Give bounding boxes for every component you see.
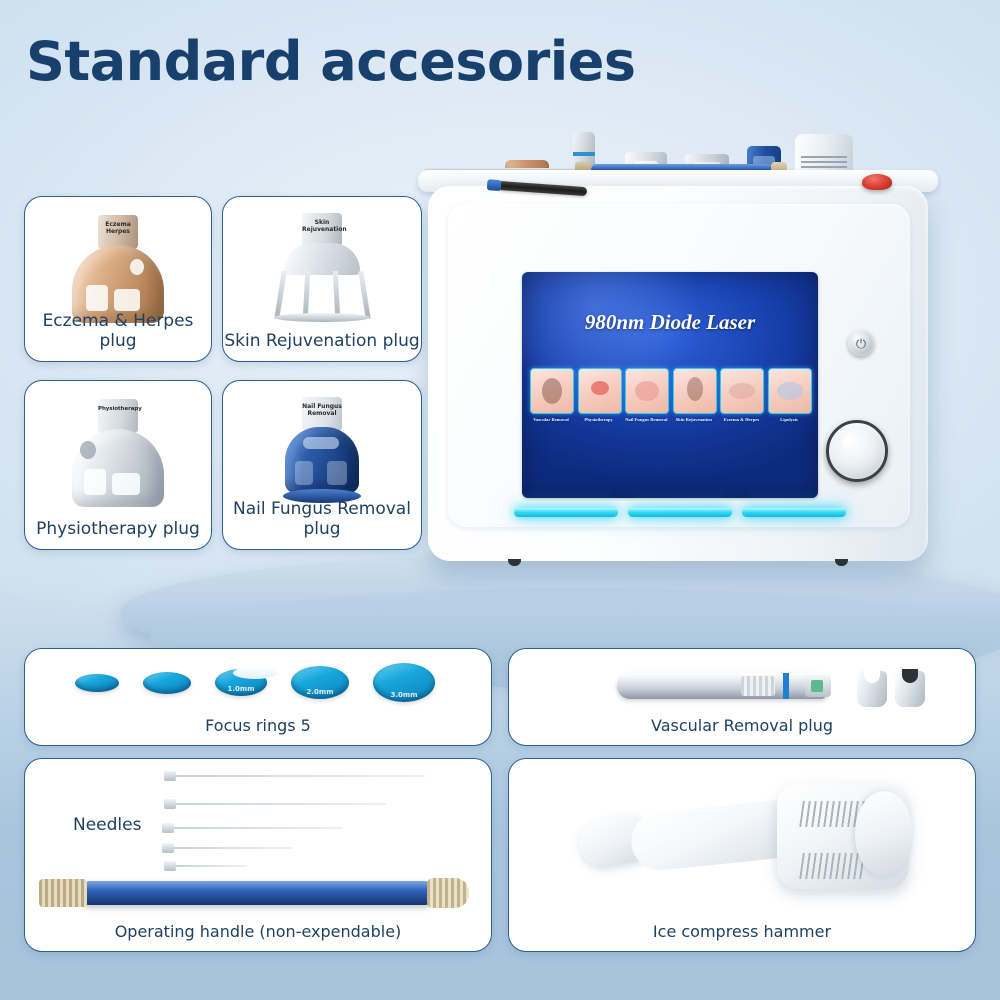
- operating-handle-image: [83, 881, 431, 905]
- mode-label: Skin Rejuvenation: [673, 417, 715, 422]
- plug-engraving-line2: Removal: [307, 410, 336, 417]
- card-label: Operating handle (non-expendable): [25, 922, 491, 941]
- mode-thumbnail-icon: [578, 368, 622, 414]
- power-icon[interactable]: ⏻: [848, 330, 874, 356]
- mode-thumbnail-icon: [720, 368, 764, 414]
- needle: [175, 865, 247, 867]
- focus-ring: [143, 672, 191, 694]
- mode-thumbnail-icon: [768, 368, 812, 414]
- ring-size-label: 1.0mm: [228, 685, 255, 693]
- cage-leg: [358, 271, 370, 319]
- handpiece-tip: [805, 675, 831, 697]
- card-focus-rings[interactable]: 1.0mm 2.0mm 3.0mm Focus rings 5: [24, 648, 492, 746]
- handpiece-blue-band: [783, 673, 789, 699]
- vascular-handpiece-image: [617, 673, 827, 699]
- ring-size-label: 2.0mm: [307, 688, 334, 696]
- mode-lipolysis[interactable]: Lipolysis: [768, 368, 810, 422]
- handle-knurled-end-right: [427, 878, 469, 908]
- cage-leg: [303, 271, 311, 319]
- card-physiotherapy-plug[interactable]: Physiotherapy Physiotherapy plug: [24, 380, 212, 550]
- hammer-vents-bottom: [799, 853, 869, 879]
- mode-skin-rejuvenation[interactable]: Skin Rejuvenation: [673, 368, 715, 422]
- plug-neck: Nail Fungus Removal: [302, 397, 342, 431]
- mode-physiotherapy[interactable]: Physiotherapy: [578, 368, 620, 422]
- plug-bell: [285, 427, 359, 493]
- mode-vascular-removal[interactable]: Vascular Removal: [530, 368, 572, 422]
- plug-engraving-line2: Rejuvenation: [302, 226, 347, 233]
- plug-bell: [72, 429, 164, 507]
- focus-ring: 2.0mm: [291, 666, 349, 699]
- card-label: Vascular Removal plug: [509, 716, 975, 735]
- plug-neck: Eczema Herpes: [98, 215, 138, 249]
- ice-hammer-image: [579, 777, 909, 895]
- emergency-stop-button[interactable]: [862, 174, 892, 190]
- plug-neck: Skin Rejuvenation: [302, 213, 342, 247]
- card-skin-rejuvenation-plug[interactable]: Skin Rejuvenation Skin Rejuvenation plug: [222, 196, 422, 362]
- hammer-neck: [628, 799, 793, 873]
- cage-leg: [333, 271, 341, 319]
- card-vascular-removal-plug[interactable]: Vascular Removal plug: [508, 648, 976, 746]
- mode-thumbnail-icon: [673, 368, 717, 414]
- needle: [175, 803, 387, 805]
- plug-engraving-line2: Herpes: [106, 228, 130, 235]
- card-eczema-herpes-plug[interactable]: Eczema Herpes Eczema & Herpes plug: [24, 196, 212, 362]
- page-title: Standard accesories: [26, 30, 636, 93]
- vascular-tip-cap-2: [895, 671, 925, 707]
- card-needles-operating-handle[interactable]: Needles Operating handle (non-expendable…: [24, 758, 492, 952]
- focus-ring: [75, 674, 119, 692]
- cage-leg: [274, 271, 286, 319]
- laser-machine: 980nm Diode Laser Vascular Removal Physi…: [428, 186, 928, 561]
- handle-knurled-end-left: [39, 879, 87, 907]
- focus-rings-image: 1.0mm 2.0mm 3.0mm: [75, 663, 435, 702]
- plug-engraving-line1: Physiotherapy: [98, 406, 142, 412]
- handpiece-grip: [741, 676, 775, 696]
- mode-eczema-herpes[interactable]: Eczema & Herpes: [720, 368, 762, 422]
- mode-label: Nail Fungus Removal: [625, 417, 667, 422]
- needles-label: Needles: [73, 815, 141, 835]
- card-label: Eczema & Herpes plug: [25, 311, 211, 351]
- ring-size-label: 3.0mm: [391, 691, 418, 699]
- vascular-tip-cap-1: [857, 671, 887, 707]
- mode-thumbnail-icon: [625, 368, 669, 414]
- product-accessories-page: Standard accesories 980nm Diode Laser: [0, 0, 1000, 1000]
- hammer-end-cap: [855, 791, 913, 877]
- screen-title: 980nm Diode Laser: [522, 310, 818, 335]
- needle: [173, 827, 343, 829]
- control-knob[interactable]: [826, 420, 888, 482]
- led-segment: [628, 508, 732, 517]
- card-label: Physiotherapy plug: [25, 519, 211, 539]
- card-label: Skin Rejuvenation plug: [223, 331, 421, 351]
- mode-label: Vascular Removal: [530, 417, 572, 422]
- card-label: Ice compress hammer: [509, 922, 975, 941]
- mode-label: Physiotherapy: [578, 417, 620, 422]
- plug-neck: Physiotherapy: [98, 399, 138, 433]
- card-label: Nail Fungus Removal plug: [223, 499, 421, 539]
- needle: [173, 847, 293, 849]
- machine-front-panel: 980nm Diode Laser Vascular Removal Physi…: [448, 204, 910, 527]
- card-nail-fungus-removal-plug[interactable]: Nail Fungus Removal Nail Fungus Removal …: [222, 380, 422, 550]
- led-indicator-strip: [514, 508, 846, 517]
- led-segment: [514, 508, 618, 517]
- machine-display[interactable]: 980nm Diode Laser Vascular Removal Physi…: [522, 272, 818, 498]
- mode-label: Lipolysis: [768, 417, 810, 422]
- machine-body: 980nm Diode Laser Vascular Removal Physi…: [428, 186, 928, 561]
- needle: [175, 775, 425, 777]
- mode-label: Eczema & Herpes: [720, 417, 762, 422]
- mode-thumbnail-icon: [530, 368, 574, 414]
- treatment-mode-grid: Vascular Removal Physiotherapy Nail Fung…: [530, 368, 810, 422]
- card-ice-compress-hammer[interactable]: Ice compress hammer: [508, 758, 976, 952]
- led-segment: [742, 508, 846, 517]
- mode-nail-fungus-removal[interactable]: Nail Fungus Removal: [625, 368, 667, 422]
- plug-dome: [284, 243, 360, 275]
- focus-ring: 3.0mm: [373, 663, 435, 702]
- card-label: Focus rings 5: [25, 716, 491, 735]
- cage-base-ring: [274, 313, 370, 322]
